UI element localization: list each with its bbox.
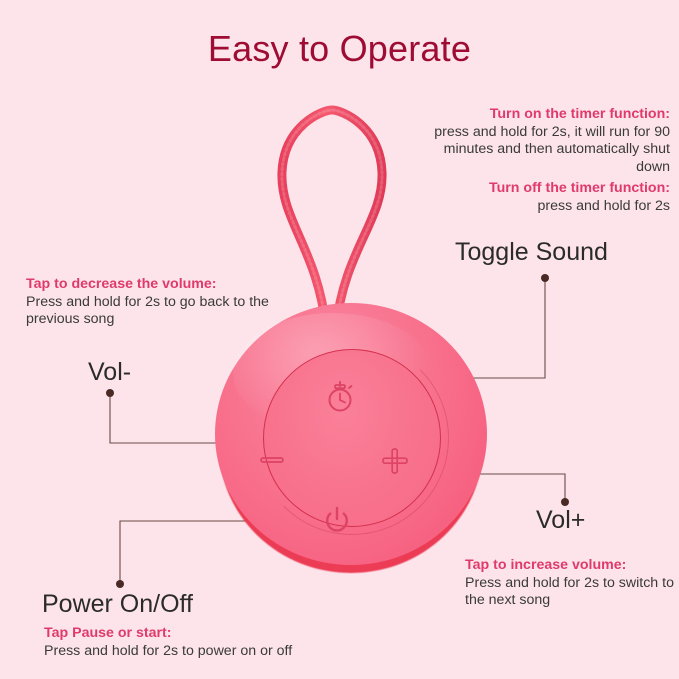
speaker-control-panel[interactable] — [263, 349, 441, 527]
speaker-device[interactable] — [215, 303, 487, 575]
note-volume-down-body: Press and hold for 2s to go back to the … — [26, 294, 284, 329]
power-icon[interactable] — [322, 505, 352, 535]
label-volume-down: Vol- — [88, 358, 131, 387]
leader-dot-toggle-sound-label — [541, 274, 549, 282]
note-timer-on-body: press and hold for 2s, it will run for 9… — [408, 124, 670, 177]
leader-dot-power-label — [116, 580, 124, 588]
note-power-heading: Tap Pause or start: — [44, 625, 344, 643]
note-volume-down: Tap to decrease the volume: Press and ho… — [26, 276, 284, 329]
lanyard-cord — [282, 110, 382, 328]
note-power-body: Press and hold for 2s to power on or off — [44, 643, 344, 661]
note-timer-off: Turn off the timer function: press and h… — [408, 180, 670, 215]
note-volume-up-heading: Tap to increase volume: — [465, 557, 679, 575]
page-title: Easy to Operate — [0, 28, 679, 70]
leader-dot-volume-down-label — [106, 389, 114, 397]
infographic-canvas: Easy to Operate — [0, 0, 679, 679]
label-power: Power On/Off — [42, 590, 193, 619]
note-power: Tap Pause or start: Press and hold for 2… — [44, 625, 344, 660]
note-timer-on: Turn on the timer function: press and ho… — [408, 106, 670, 176]
minus-icon[interactable] — [260, 455, 284, 465]
leader-dot-volume-up-label — [561, 498, 569, 506]
note-timer-on-heading: Turn on the timer function: — [408, 106, 670, 124]
note-volume-up: Tap to increase volume: Press and hold f… — [465, 557, 679, 610]
note-volume-up-body: Press and hold for 2s to switch to the n… — [465, 575, 679, 610]
label-toggle-sound: Toggle Sound — [455, 238, 608, 267]
stopwatch-icon[interactable] — [325, 381, 355, 413]
note-timer-off-heading: Turn off the timer function: — [408, 180, 670, 198]
note-timer-off-body: press and hold for 2s — [408, 198, 670, 216]
note-volume-down-heading: Tap to decrease the volume: — [26, 276, 284, 294]
plus-icon[interactable] — [382, 448, 408, 474]
label-volume-up: Vol+ — [536, 506, 585, 535]
